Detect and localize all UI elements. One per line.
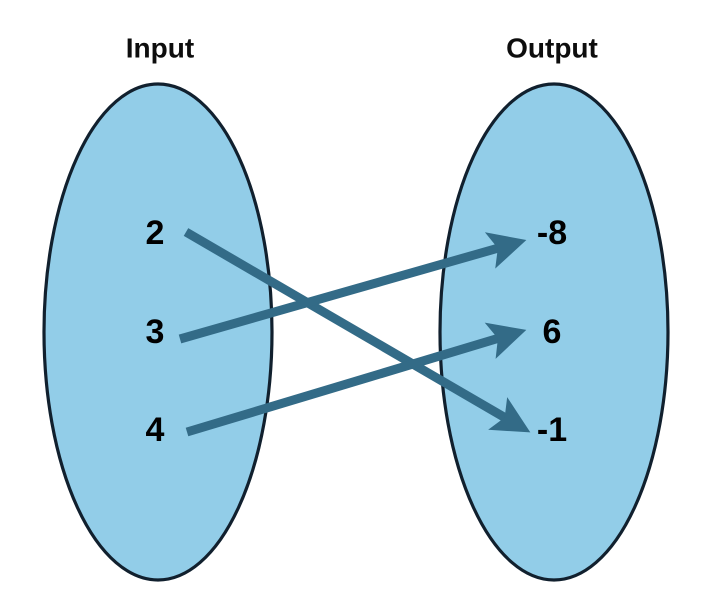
input-set-title: Input: [126, 32, 194, 63]
input-element-4: 4: [146, 411, 165, 449]
output-set-title: Output: [506, 32, 598, 63]
input-element-2: 2: [146, 214, 165, 252]
mapping-canvas: Input Output 2 3 4 -8 6 -1: [0, 0, 702, 608]
output-element-6: 6: [543, 313, 562, 351]
output-element-neg8: -8: [537, 214, 567, 252]
output-element-neg1: -1: [537, 411, 567, 449]
input-element-3: 3: [146, 313, 165, 351]
function-mapping-diagram: Input Output 2 3 4 -8 6 -1: [0, 0, 702, 608]
